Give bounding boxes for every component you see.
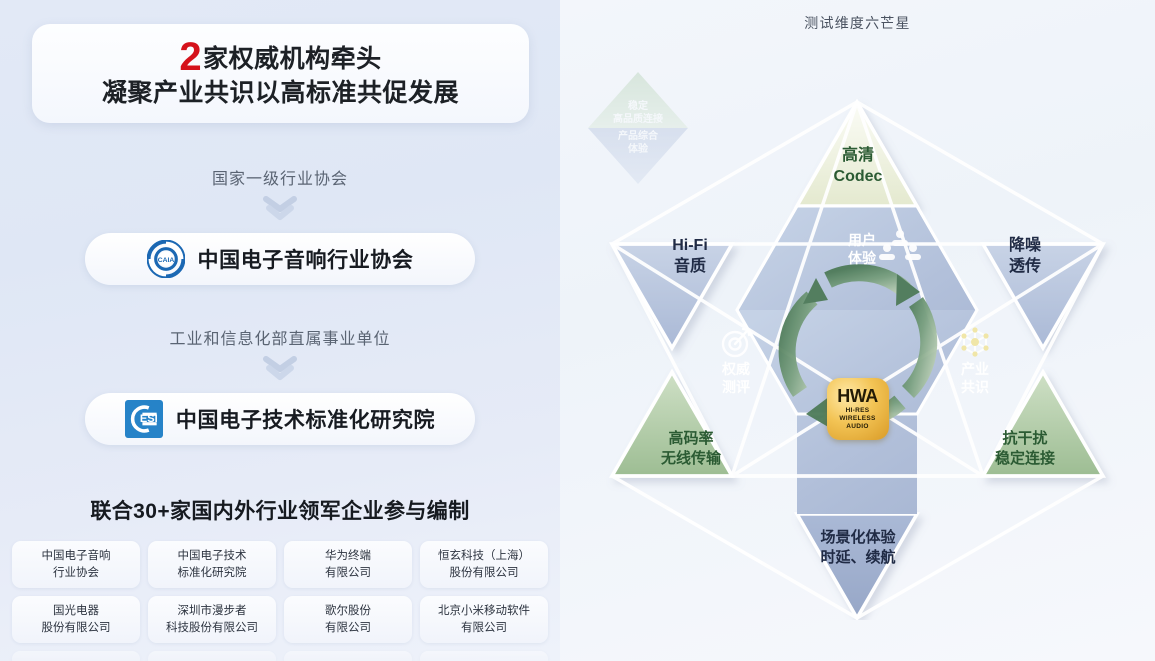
join-title: 联合30+家国内外行业领军企业参与编制: [0, 495, 560, 525]
company-line-2: 股份有限公司: [42, 620, 111, 637]
target-icon: [719, 325, 753, 359]
hwa-sub-line-1: HI-RES: [839, 407, 875, 415]
company-line-1: 华为终端: [325, 548, 371, 565]
company-card[interactable]: 国光电器 股份有限公司: [12, 596, 140, 643]
company-line-2: 有限公司: [325, 620, 371, 637]
hwa-subtext: HI-RES WIRELESS AUDIO: [839, 407, 875, 432]
headline-line-2: 凝聚产业共识以高标准共促发展: [32, 78, 529, 109]
headline-card: 2家权威机构牵头 凝聚产业共识以高标准共促发展: [32, 24, 529, 123]
company-line-1: 深圳市漫步者: [178, 603, 247, 620]
tip-triangle-antijam[interactable]: [983, 372, 1103, 476]
people-group-icon: [878, 229, 922, 263]
company-line-2: 有限公司: [461, 620, 507, 637]
network-nodes-icon: [958, 325, 992, 359]
right-panel: 测试维度六芒星 稳定 高品质连接 产品综合 体验: [560, 0, 1155, 661]
svg-text:CAIA: CAIA: [157, 257, 174, 264]
section-label-association: 国家一级行业协会: [0, 165, 560, 189]
company-card[interactable]: 歌尔股份 有限公司: [284, 596, 412, 643]
company-card-partial: [148, 651, 276, 661]
company-line-1: 恒玄科技（上海）: [438, 548, 530, 565]
org-pill-caia[interactable]: CAIA 中国电子音响行业协会: [85, 233, 475, 285]
double-chevron-down-icon: [0, 356, 560, 382]
infographic-page: 2家权威机构牵头 凝聚产业共识以高标准共促发展 国家一级行业协会: [0, 0, 1155, 661]
company-line-2: 标准化研究院: [178, 565, 247, 582]
org-name-cesi: 中国电子技术标准化研究院: [176, 404, 435, 434]
hwa-sub-line-2: WIRELESS: [839, 415, 875, 423]
section-label-institute: 工业和信息化部直属事业单位: [0, 325, 560, 349]
tip-triangle-scene[interactable]: [797, 514, 917, 618]
company-card[interactable]: 北京小米移动软件 有限公司: [420, 596, 548, 643]
svg-text:ESI: ESI: [140, 413, 158, 425]
company-line-1: 歌尔股份: [325, 603, 371, 620]
headline-line-1: 2家权威机构牵头: [32, 34, 529, 80]
company-card-partial: [284, 651, 412, 661]
company-line-2: 科技股份有限公司: [166, 620, 258, 637]
company-line-1: 中国电子音响: [42, 548, 111, 565]
company-grid: 中国电子音响 行业协会 中国电子技术 标准化研究院 华为终端 有限公司 恒玄科技…: [12, 541, 548, 661]
org-pill-cesi[interactable]: ESI 中国电子技术标准化研究院: [85, 393, 475, 445]
company-line-2: 行业协会: [53, 565, 99, 582]
hwa-mark: HWA: [837, 387, 878, 405]
company-line-1: 国光电器: [53, 603, 99, 620]
company-card[interactable]: 华为终端 有限公司: [284, 541, 412, 588]
cesi-logo: ESI: [125, 400, 163, 438]
hwa-sub-line-3: AUDIO: [839, 423, 875, 431]
headline-line-1-rest: 家权威机构牵头: [203, 45, 382, 73]
company-line-2: 有限公司: [325, 565, 371, 582]
company-line-1: 北京小米移动软件: [438, 603, 530, 620]
org-name-caia: 中国电子音响行业协会: [198, 244, 414, 274]
company-line-1: 中国电子技术: [178, 548, 247, 565]
double-chevron-down-icon: [0, 196, 560, 222]
tip-triangle-hifi[interactable]: [612, 244, 732, 348]
tip-triangle-anc[interactable]: [983, 244, 1103, 348]
tip-triangle-codec[interactable]: [797, 102, 917, 206]
company-card-partial: [12, 651, 140, 661]
left-panel: 2家权威机构牵头 凝聚产业共识以高标准共促发展 国家一级行业协会: [0, 0, 560, 661]
tip-triangle-bitrate[interactable]: [612, 372, 732, 476]
company-card[interactable]: 恒玄科技（上海） 股份有限公司: [420, 541, 548, 588]
hwa-logo-badge[interactable]: HWA HI-RES WIRELESS AUDIO: [827, 378, 889, 440]
company-card-partial: [420, 651, 548, 661]
company-line-2: 股份有限公司: [450, 565, 519, 582]
headline-number: 2: [179, 35, 202, 79]
caia-logo: CAIA: [147, 240, 185, 278]
hexagram-diagram: [560, 40, 1155, 620]
hexagram-title: 测试维度六芒星: [560, 13, 1155, 33]
company-card[interactable]: 中国电子音响 行业协会: [12, 541, 140, 588]
company-card[interactable]: 深圳市漫步者 科技股份有限公司: [148, 596, 276, 643]
company-card[interactable]: 中国电子技术 标准化研究院: [148, 541, 276, 588]
